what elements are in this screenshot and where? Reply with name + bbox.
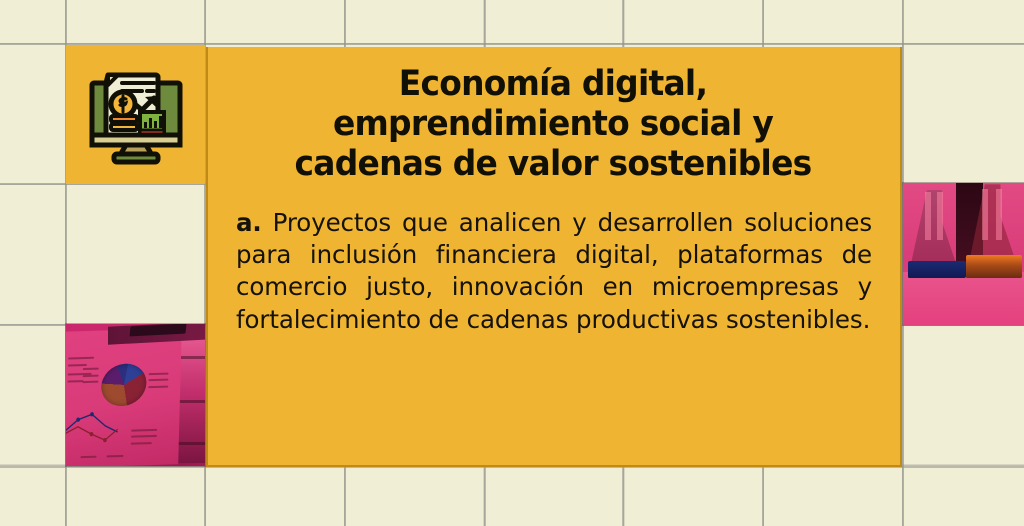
- photo-line-chart: [66, 407, 127, 448]
- photo-flask-neck: [937, 192, 943, 240]
- photo-text-line: [149, 385, 168, 388]
- photo-text-line: [68, 380, 84, 382]
- slide-canvas: Economía digital, emprendimiento social …: [0, 0, 1024, 526]
- photo-pie-chart: [101, 362, 148, 408]
- laboratory-flasks-photo: [903, 183, 1024, 325]
- photo-flask-neck: [925, 192, 931, 240]
- photo-text-line: [131, 435, 157, 438]
- photo-text-line: [80, 456, 97, 458]
- photo-flask-neck: [982, 189, 988, 240]
- card-title: Economía digital, emprendimiento social …: [251, 65, 854, 185]
- card-body-text: Proyectos que analicen y desarrollen sol…: [236, 208, 872, 334]
- photo-text-line: [69, 356, 95, 359]
- photo-text-line: [83, 374, 100, 376]
- photo-text-line: [82, 381, 99, 383]
- digital-economy-monitor-icon: [84, 63, 188, 167]
- photo-text-line: [149, 372, 168, 375]
- photo-flask-blue-liquid: [908, 261, 966, 278]
- card-body-lead: a.: [236, 208, 262, 237]
- content-card: Economía digital, emprendimiento social …: [206, 47, 902, 467]
- photo-text-line: [107, 455, 124, 457]
- photo-text-line: [131, 442, 153, 445]
- card-body: a. Proyectos que analicen y desarrollen …: [236, 207, 872, 336]
- photo-text-line: [149, 379, 168, 382]
- photo-bench-surface: [903, 272, 1024, 325]
- business-report-photo: [66, 324, 205, 466]
- photo-flask-orange-liquid: [966, 255, 1022, 278]
- photo-report-sheet: [66, 328, 182, 466]
- photo-text-line: [69, 363, 88, 366]
- digital-economy-icon-tile: [66, 45, 205, 184]
- photo-flask-neck: [996, 189, 1002, 240]
- photo-text-line: [131, 428, 157, 431]
- photo-text-line: [83, 367, 100, 369]
